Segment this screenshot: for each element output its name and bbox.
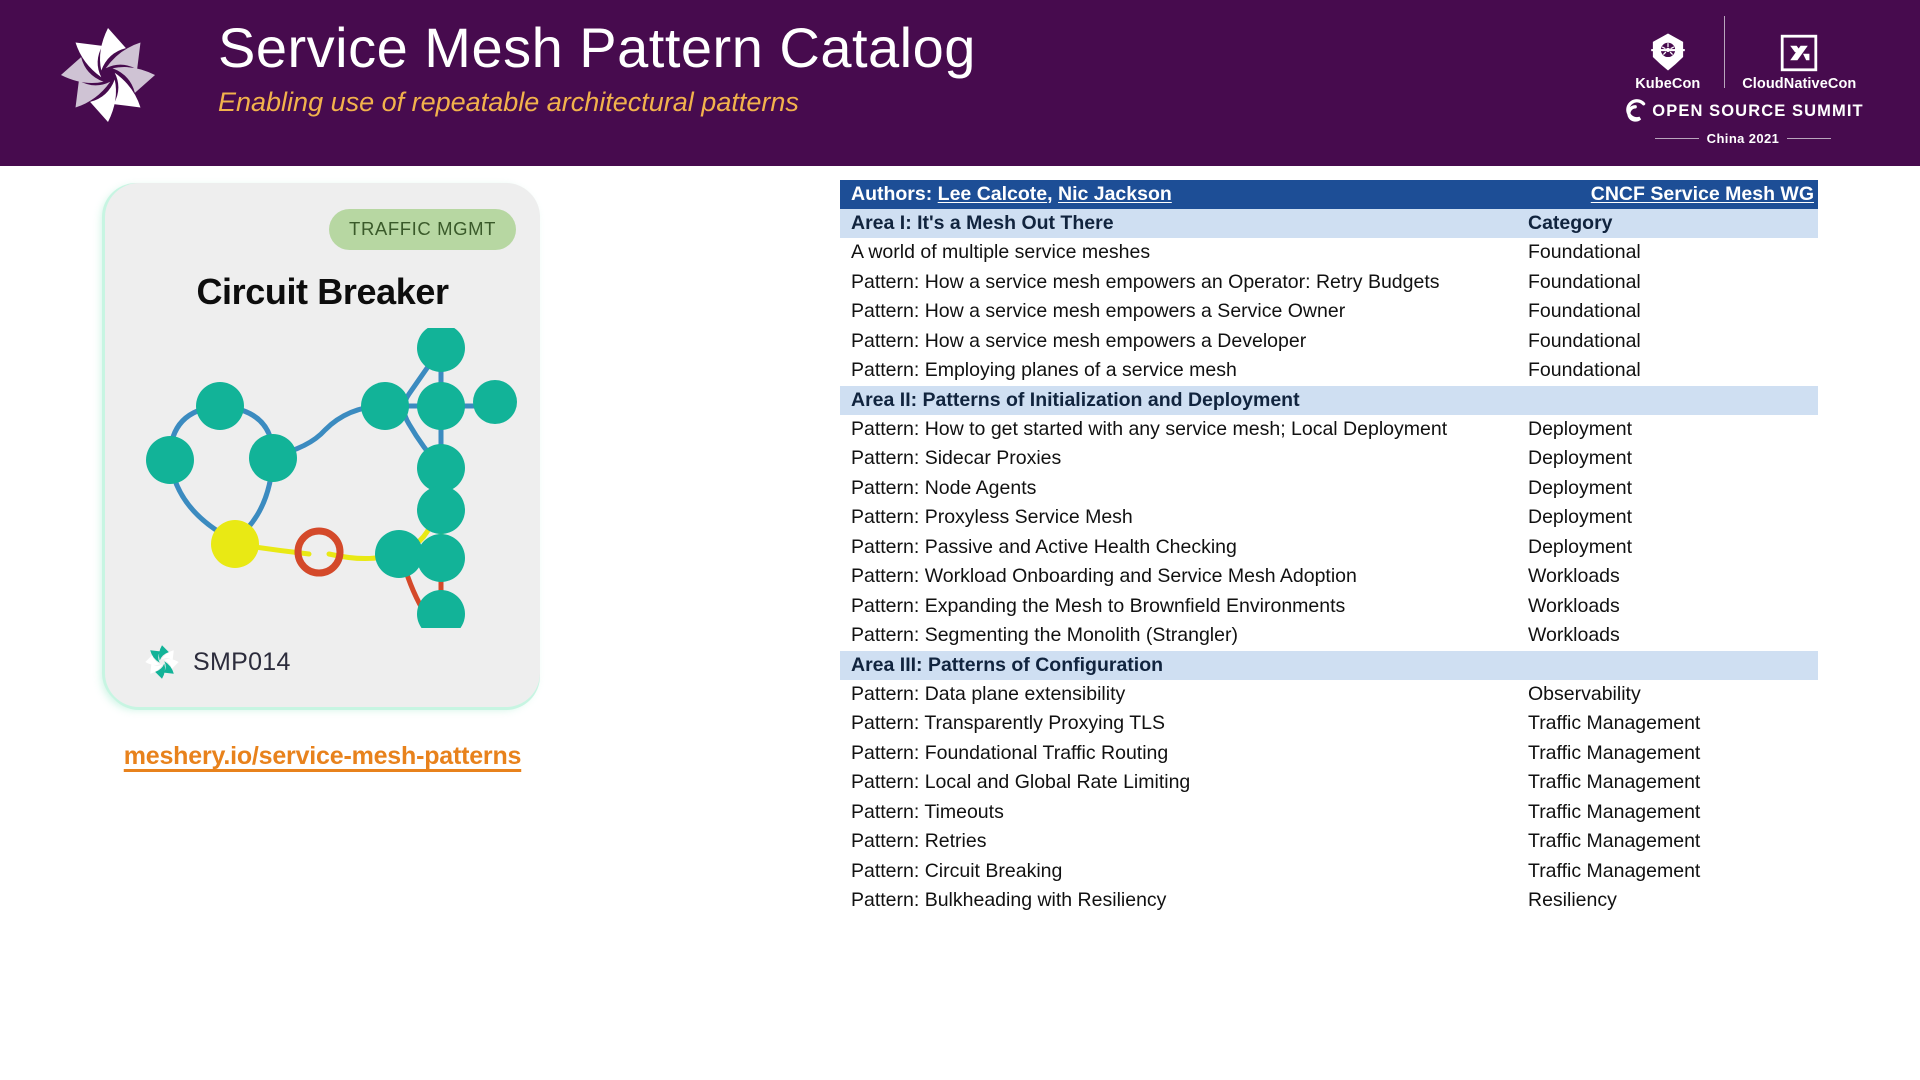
table-row[interactable]: Pattern: Workload Onboarding and Service… [840,562,1818,592]
kubecon-label: KubeCon [1635,76,1700,92]
table-authors-row: Authors: Lee Calcote, Nic Jackson CNCF S… [840,180,1818,209]
category-cell: Resiliency [1528,889,1818,912]
category-cell: Deployment [1528,447,1818,470]
pattern-name-cell: Pattern: How a service mesh empowers an … [840,271,1528,294]
table-row[interactable]: Pattern: TimeoutsTraffic Management [840,798,1818,828]
open-source-summit-s-icon [1622,96,1652,126]
category-cell: Foundational [1528,241,1818,264]
pattern-name-cell: A world of multiple service meshes [840,241,1528,264]
pattern-name-cell: Pattern: Passive and Active Health Check… [840,536,1528,559]
pattern-name-cell: Pattern: Expanding the Mesh to Brownfiel… [840,595,1528,618]
pattern-name-cell: Pattern: Circuit Breaking [840,860,1528,883]
pattern-name-cell: Pattern: Local and Global Rate Limiting [840,771,1528,794]
category-cell: Deployment [1528,477,1818,500]
degraded-node [211,520,259,568]
category-cell: Foundational [1528,330,1818,353]
cloudnativecon-label: CloudNativeCon [1742,76,1856,92]
category-cell: Deployment [1528,506,1818,529]
pattern-id-label: SMP014 [193,648,291,677]
table-row[interactable]: Pattern: How a service mesh empowers an … [840,268,1818,298]
category-cell: Deployment [1528,418,1818,441]
pattern-name-cell: Pattern: Transparently Proxying TLS [840,712,1528,735]
pattern-name-cell: Pattern: How a service mesh empowers a S… [840,300,1528,323]
table-row[interactable]: Pattern: Employing planes of a service m… [840,356,1818,386]
status-badge: TRAFFIC MGMT [329,209,516,250]
slide-root: Service Mesh Pattern Catalog Enabling us… [0,0,1920,1080]
meshery-pinwheel-logo-icon [52,16,164,134]
authors-separator: , [1047,183,1052,206]
year-rule-left [1655,138,1699,139]
table-body: Area I: It's a Mesh Out ThereCategoryA w… [840,209,1818,916]
conference-year-label: China 2021 [1707,131,1780,146]
table-row[interactable]: Pattern: How a service mesh empowers a D… [840,327,1818,357]
table-row[interactable]: A world of multiple service meshesFounda… [840,238,1818,268]
table-row[interactable]: Pattern: Passive and Active Health Check… [840,533,1818,563]
page-title: Service Mesh Pattern Catalog [218,14,976,81]
pattern-name-cell: Pattern: Node Agents [840,477,1528,500]
working-group-link[interactable]: CNCF Service Mesh WG [1591,183,1814,206]
pattern-name-cell: Pattern: Proxyless Service Mesh [840,506,1528,529]
pattern-name-cell: Pattern: How a service mesh empowers a D… [840,330,1528,353]
catalog-link[interactable]: meshery.io/service-mesh-patterns [124,742,521,770]
category-cell: Workloads [1528,624,1818,647]
authors-label: Authors: [851,183,932,206]
pattern-name-cell: Pattern: Timeouts [840,801,1528,824]
category-cell: Traffic Management [1528,742,1818,765]
table-row[interactable]: Pattern: Data plane extensibilityObserva… [840,680,1818,710]
category-cell: Traffic Management [1528,712,1818,735]
table-section-header: Area III: Patterns of Configuration [840,651,1818,680]
pattern-name-cell: Pattern: Retries [840,830,1528,853]
pattern-name-cell: Pattern: Data plane extensibility [840,683,1528,706]
table-row[interactable]: Pattern: How a service mesh empowers a S… [840,297,1818,327]
meshery-pinwheel-logo-teal-icon [143,643,181,681]
service-mesh-graph-illustration [123,328,523,628]
table-section-header: Area II: Patterns of Initialization and … [840,386,1818,415]
section-title: Area II: Patterns of Initialization and … [840,389,1528,412]
pattern-name-cell: Pattern: Sidecar Proxies [840,447,1528,470]
author-link-1[interactable]: Lee Calcote [938,183,1047,206]
category-column-header: Category [1528,212,1818,235]
card-title: Circuit Breaker [105,271,540,313]
category-cell: Workloads [1528,595,1818,618]
cncf-square-icon [1779,33,1819,73]
category-cell: Observability [1528,683,1818,706]
author-link-2[interactable]: Nic Jackson [1058,183,1172,206]
table-row[interactable]: Pattern: Proxyless Service MeshDeploymen… [840,503,1818,533]
table-row[interactable]: Pattern: Local and Global Rate LimitingT… [840,768,1818,798]
year-rule-right [1787,138,1831,139]
conference-logo-block: KubeCon CloudNativeCon OPEN S [1618,8,1868,158]
pattern-name-cell: Pattern: Workload Onboarding and Service… [840,565,1528,588]
category-cell: Workloads [1528,565,1818,588]
logo-divider [1724,16,1725,88]
section-title: Area III: Patterns of Configuration [840,654,1528,677]
pattern-name-cell: Pattern: Segmenting the Monolith (Strang… [840,624,1528,647]
table-row[interactable]: Pattern: Bulkheading with ResiliencyResi… [840,886,1818,916]
table-row[interactable]: Pattern: Foundational Traffic RoutingTra… [840,739,1818,769]
table-row[interactable]: Pattern: Node AgentsDeployment [840,474,1818,504]
pattern-name-cell: Pattern: Foundational Traffic Routing [840,742,1528,765]
card-footer: SMP014 [143,643,291,681]
pattern-catalog-table: Authors: Lee Calcote, Nic Jackson CNCF S… [840,180,1818,916]
section-title: Area I: It's a Mesh Out There [840,212,1528,235]
kubernetes-helm-icon [1647,31,1689,73]
page-subtitle: Enabling use of repeatable architectural… [218,87,976,118]
pattern-name-cell: Pattern: Bulkheading with Resiliency [840,889,1528,912]
category-cell: Foundational [1528,300,1818,323]
table-section-header: Area I: It's a Mesh Out ThereCategory [840,209,1818,238]
table-row[interactable]: Pattern: Circuit BreakingTraffic Managem… [840,857,1818,887]
table-row[interactable]: Pattern: RetriesTraffic Management [840,827,1818,857]
category-cell: Traffic Management [1528,860,1818,883]
table-row[interactable]: Pattern: How to get started with any ser… [840,415,1818,445]
category-cell: Foundational [1528,359,1818,382]
pattern-name-cell: Pattern: How to get started with any ser… [840,418,1528,441]
catalog-link-wrap: meshery.io/service-mesh-patterns [105,742,540,771]
category-cell: Traffic Management [1528,801,1818,824]
category-cell: Traffic Management [1528,830,1818,853]
header-banner: Service Mesh Pattern Catalog Enabling us… [0,0,1920,166]
category-cell: Traffic Management [1528,771,1818,794]
table-row[interactable]: Pattern: Sidecar ProxiesDeployment [840,444,1818,474]
category-cell: Foundational [1528,271,1818,294]
pattern-card[interactable]: TRAFFIC MGMT Circuit Breaker [105,183,540,707]
category-cell: Deployment [1528,536,1818,559]
banner-text-block: Service Mesh Pattern Catalog Enabling us… [218,14,976,118]
table-row[interactable]: Pattern: Segmenting the Monolith (Strang… [840,621,1818,651]
table-row[interactable]: Pattern: Transparently Proxying TLSTraff… [840,709,1818,739]
open-source-summit-label: OPEN SOURCE SUMMIT [1652,102,1863,121]
pattern-name-cell: Pattern: Employing planes of a service m… [840,359,1528,382]
table-row[interactable]: Pattern: Expanding the Mesh to Brownfiel… [840,592,1818,622]
